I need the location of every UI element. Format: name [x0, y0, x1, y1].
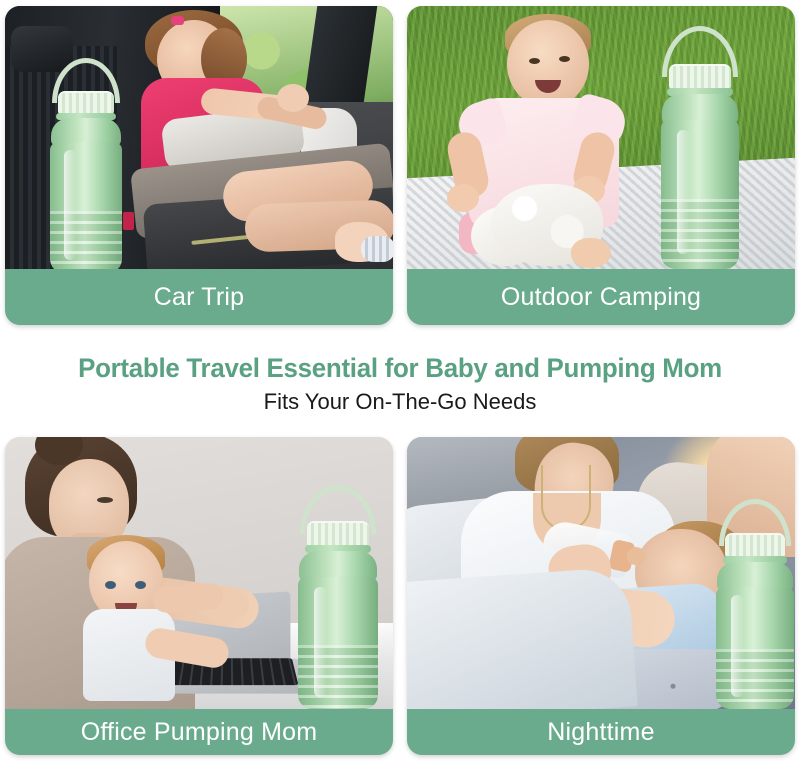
bottle-ribbed-grip — [298, 645, 378, 709]
car-interior-scene — [5, 6, 393, 269]
bottle-cap — [725, 533, 785, 558]
photo-nighttime — [407, 437, 795, 709]
baby-eye-right — [135, 581, 146, 589]
bottle-cap — [669, 64, 731, 90]
baby-eye-right — [559, 56, 570, 62]
baby-hand-left — [447, 184, 479, 212]
bottle-body — [50, 142, 122, 269]
bedroom-night-background — [407, 437, 795, 709]
duvet-blanket — [407, 566, 638, 709]
insulated-bottle — [657, 26, 743, 269]
photo-outdoor-camping — [407, 6, 795, 269]
office-room-background — [5, 437, 393, 709]
photo-office-pumping-mom — [5, 437, 393, 709]
card-caption-car-trip: Car Trip — [5, 269, 393, 325]
page-title: Portable Travel Essential for Baby and P… — [16, 352, 784, 384]
baby-eye-left — [529, 58, 540, 64]
laptop-keyboard — [160, 658, 299, 685]
grass-lawn-background — [407, 6, 795, 269]
card-outdoor-camping[interactable]: Outdoor Camping — [407, 6, 795, 325]
bottle-ribbed-grip — [50, 211, 122, 269]
baby-foot — [571, 238, 611, 268]
bottle-cap — [307, 521, 369, 547]
toddler-sock — [361, 236, 393, 262]
bottle-highlight — [64, 150, 76, 260]
card-caption-nighttime: Nighttime — [407, 709, 795, 755]
baby-head — [507, 20, 589, 108]
card-car-trip[interactable]: Car Trip — [5, 6, 393, 325]
bottle-highlight — [677, 130, 690, 254]
card-office-pumping-mom[interactable]: Office Pumping Mom — [5, 437, 393, 755]
page-subtitle: Fits Your On-The-Go Needs — [0, 388, 800, 416]
toddler-hand — [277, 84, 309, 112]
bottle-highlight — [314, 587, 327, 697]
insulated-bottle — [290, 485, 386, 709]
card-nighttime[interactable]: Nighttime — [407, 437, 795, 755]
bottle-cap — [58, 91, 114, 115]
bottle-highlight — [731, 595, 744, 697]
promo-page: Car Trip — [0, 0, 800, 771]
bottle-body — [716, 587, 794, 709]
bottle-body — [298, 577, 378, 709]
insulated-bottle — [707, 499, 795, 709]
card-caption-office-pumping-mom: Office Pumping Mom — [5, 709, 393, 755]
baby-eye-left — [105, 581, 116, 589]
bottle-body — [661, 120, 739, 269]
baby-arm-second — [152, 583, 224, 614]
toddler-hair-clip — [171, 16, 184, 25]
headline-block: Portable Travel Essential for Baby and P… — [0, 352, 800, 416]
insulated-bottle — [47, 58, 125, 269]
bottle-ribbed-grip — [661, 199, 739, 269]
necklace — [541, 465, 591, 531]
card-caption-outdoor-camping: Outdoor Camping — [407, 269, 795, 325]
bottle-ribbed-grip — [716, 649, 794, 709]
photo-car-trip — [5, 6, 393, 269]
mother-eye — [97, 497, 113, 503]
